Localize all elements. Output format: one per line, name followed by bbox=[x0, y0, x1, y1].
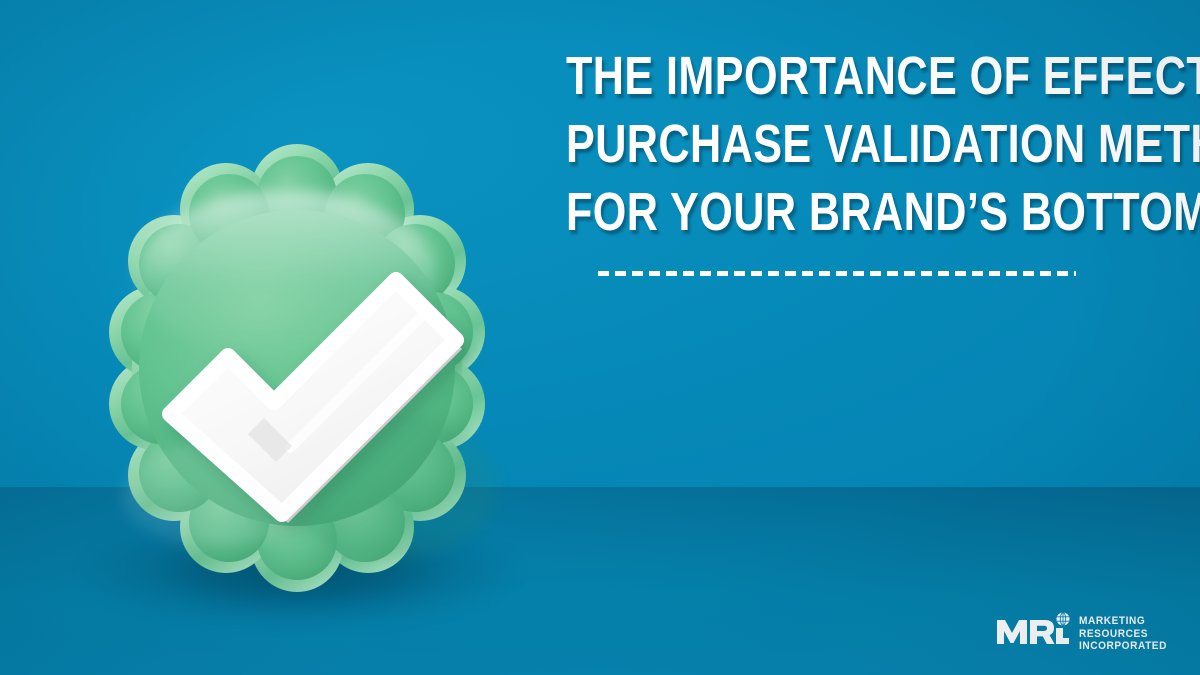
social-card-canvas: THE IMPORTANCE OF EFFECTIVE PURCHASE VAL… bbox=[0, 0, 1200, 675]
mri-logo[interactable]: MARKETING RESOURCES INCORPORATED bbox=[995, 609, 1175, 653]
verified-badge-icon bbox=[78, 156, 516, 580]
headline-line-1: THE IMPORTANCE OF EFFECTIVE bbox=[566, 42, 1094, 110]
mri-wordmark-icon bbox=[995, 610, 1073, 652]
globe-icon bbox=[1057, 612, 1070, 625]
mri-logo-line-1: MARKETING bbox=[1079, 615, 1167, 628]
mri-logo-line-3: INCORPORATED bbox=[1079, 640, 1167, 653]
headline-line-3: FOR YOUR BRAND’S BOTTOM LINE bbox=[566, 178, 1094, 246]
headline-line-2: PURCHASE VALIDATION METHODS bbox=[566, 110, 1094, 178]
mri-logo-words: MARKETING RESOURCES INCORPORATED bbox=[1079, 609, 1167, 653]
mri-logo-line-2: RESOURCES bbox=[1079, 628, 1167, 641]
headline: THE IMPORTANCE OF EFFECTIVE PURCHASE VAL… bbox=[500, 42, 1160, 246]
dashed-divider bbox=[598, 271, 1076, 276]
